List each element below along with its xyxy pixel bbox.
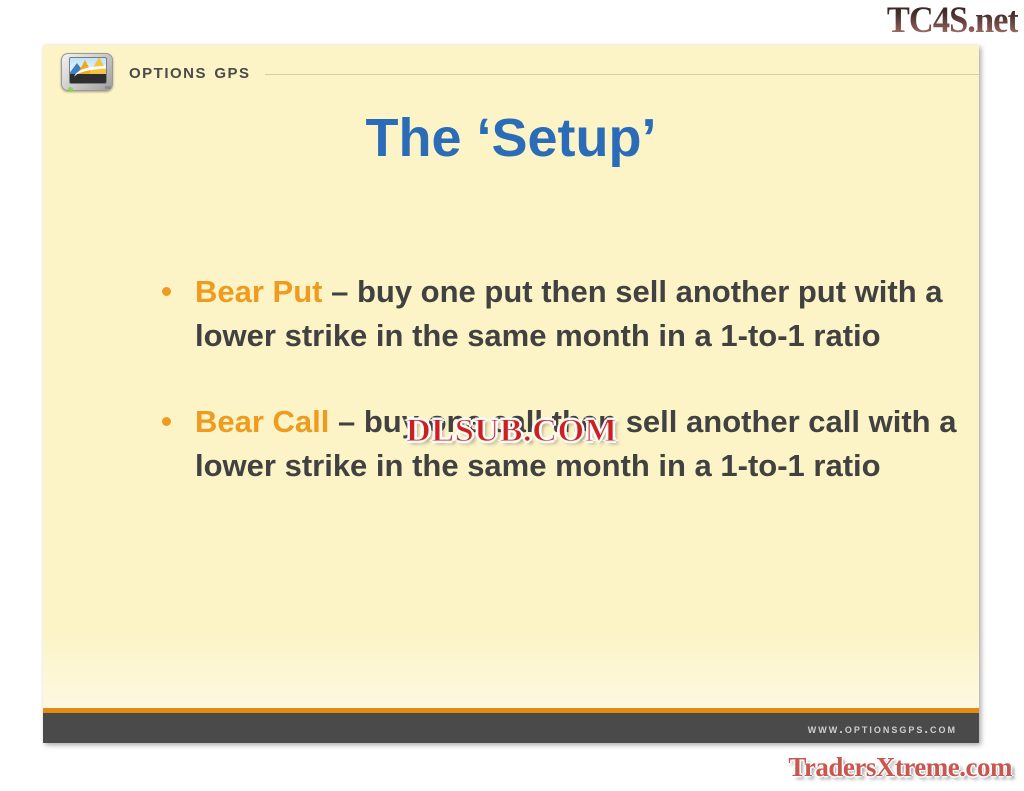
- tradersxtreme-watermark: TradersXtreme.com: [788, 752, 1012, 783]
- bullet-dot-icon: [162, 287, 171, 296]
- tc4s-watermark: TC4S.net: [887, 2, 1018, 39]
- bullet-dot-icon: [162, 417, 171, 426]
- footer-bar: www.OptionsGPS.com: [43, 713, 979, 743]
- page-title: The ‘Setup’: [43, 107, 979, 169]
- bullet-term: Bear Call: [195, 404, 329, 439]
- brand-label: Options GPS: [129, 60, 251, 84]
- slide-header: Options GPS: [43, 45, 979, 99]
- footer-url: www.OptionsGPS.com: [808, 721, 957, 736]
- bullet-term: Bear Put: [195, 274, 322, 309]
- dlsub-watermark: DLSUB.COM: [406, 413, 618, 450]
- header-divider: [265, 74, 979, 75]
- list-item: Bear Put – buy one put then sell another…: [98, 270, 978, 358]
- bullet-list: Bear Put – buy one put then sell another…: [98, 270, 978, 530]
- slide-footer: www.OptionsGPS.com: [43, 708, 979, 743]
- gps-device-icon: [59, 50, 115, 94]
- slide: Options GPS The ‘Setup’ Bear Put – buy o…: [43, 45, 979, 743]
